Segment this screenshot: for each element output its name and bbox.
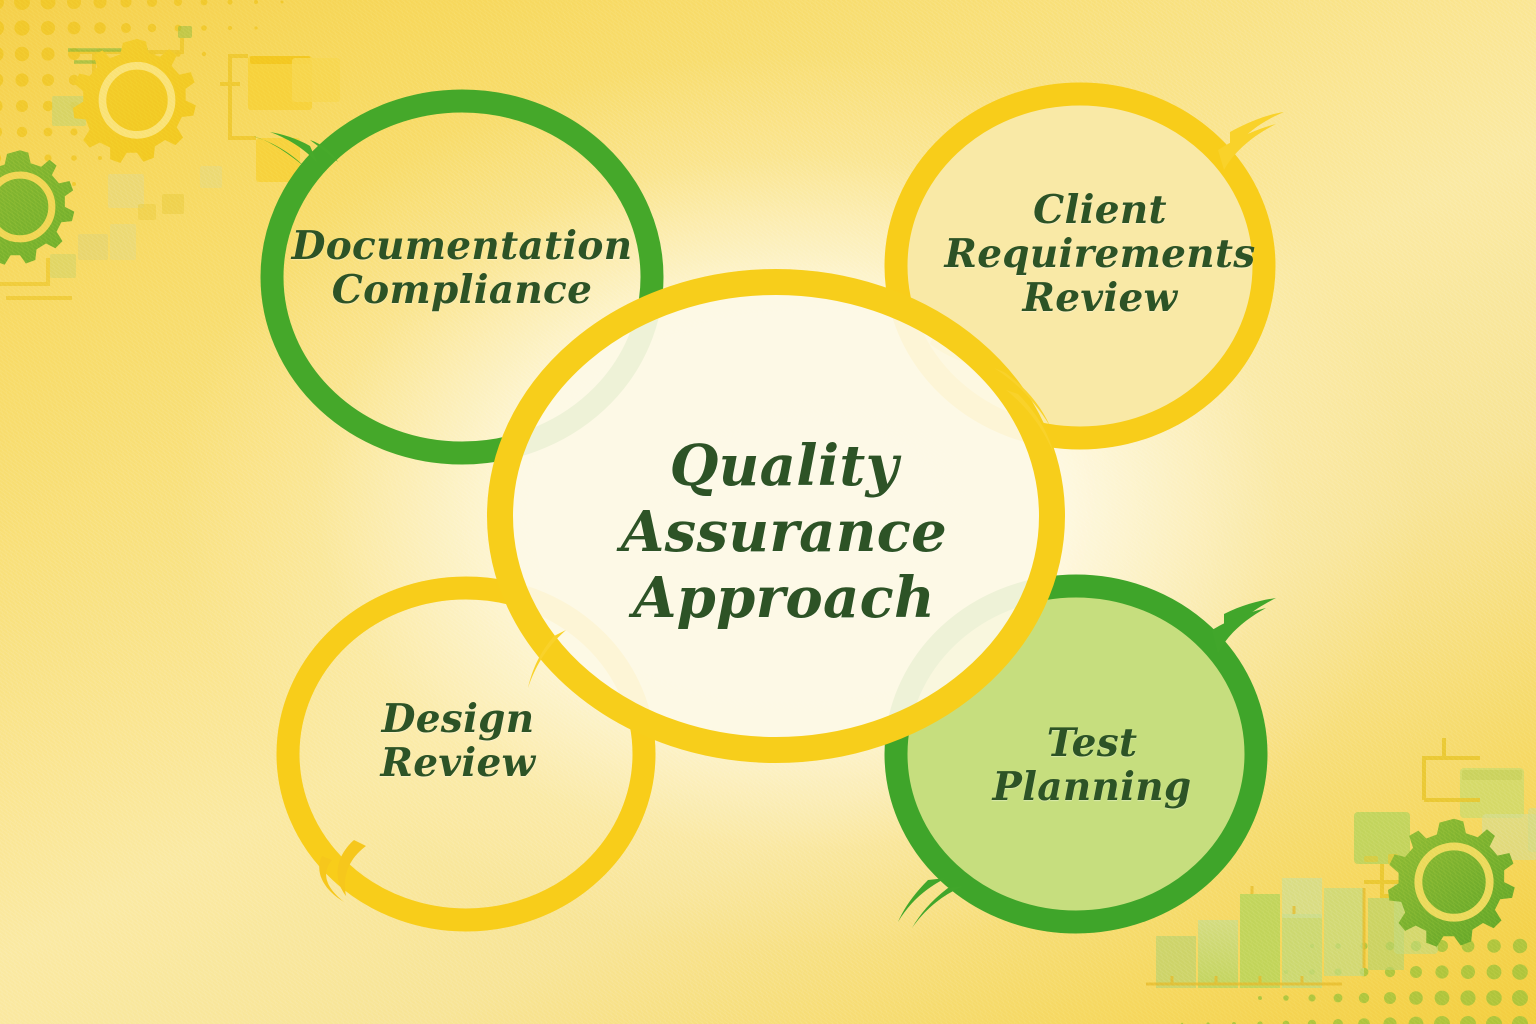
circle-quality-assurance-approach[interactable]: Quality Assurance Approach — [484, 268, 1068, 764]
diagram-canvas: Design Review Documentation Compliance C… — [0, 0, 1536, 1024]
quality-assurance-approach-label: Quality Assurance Approach — [492, 284, 1076, 780]
